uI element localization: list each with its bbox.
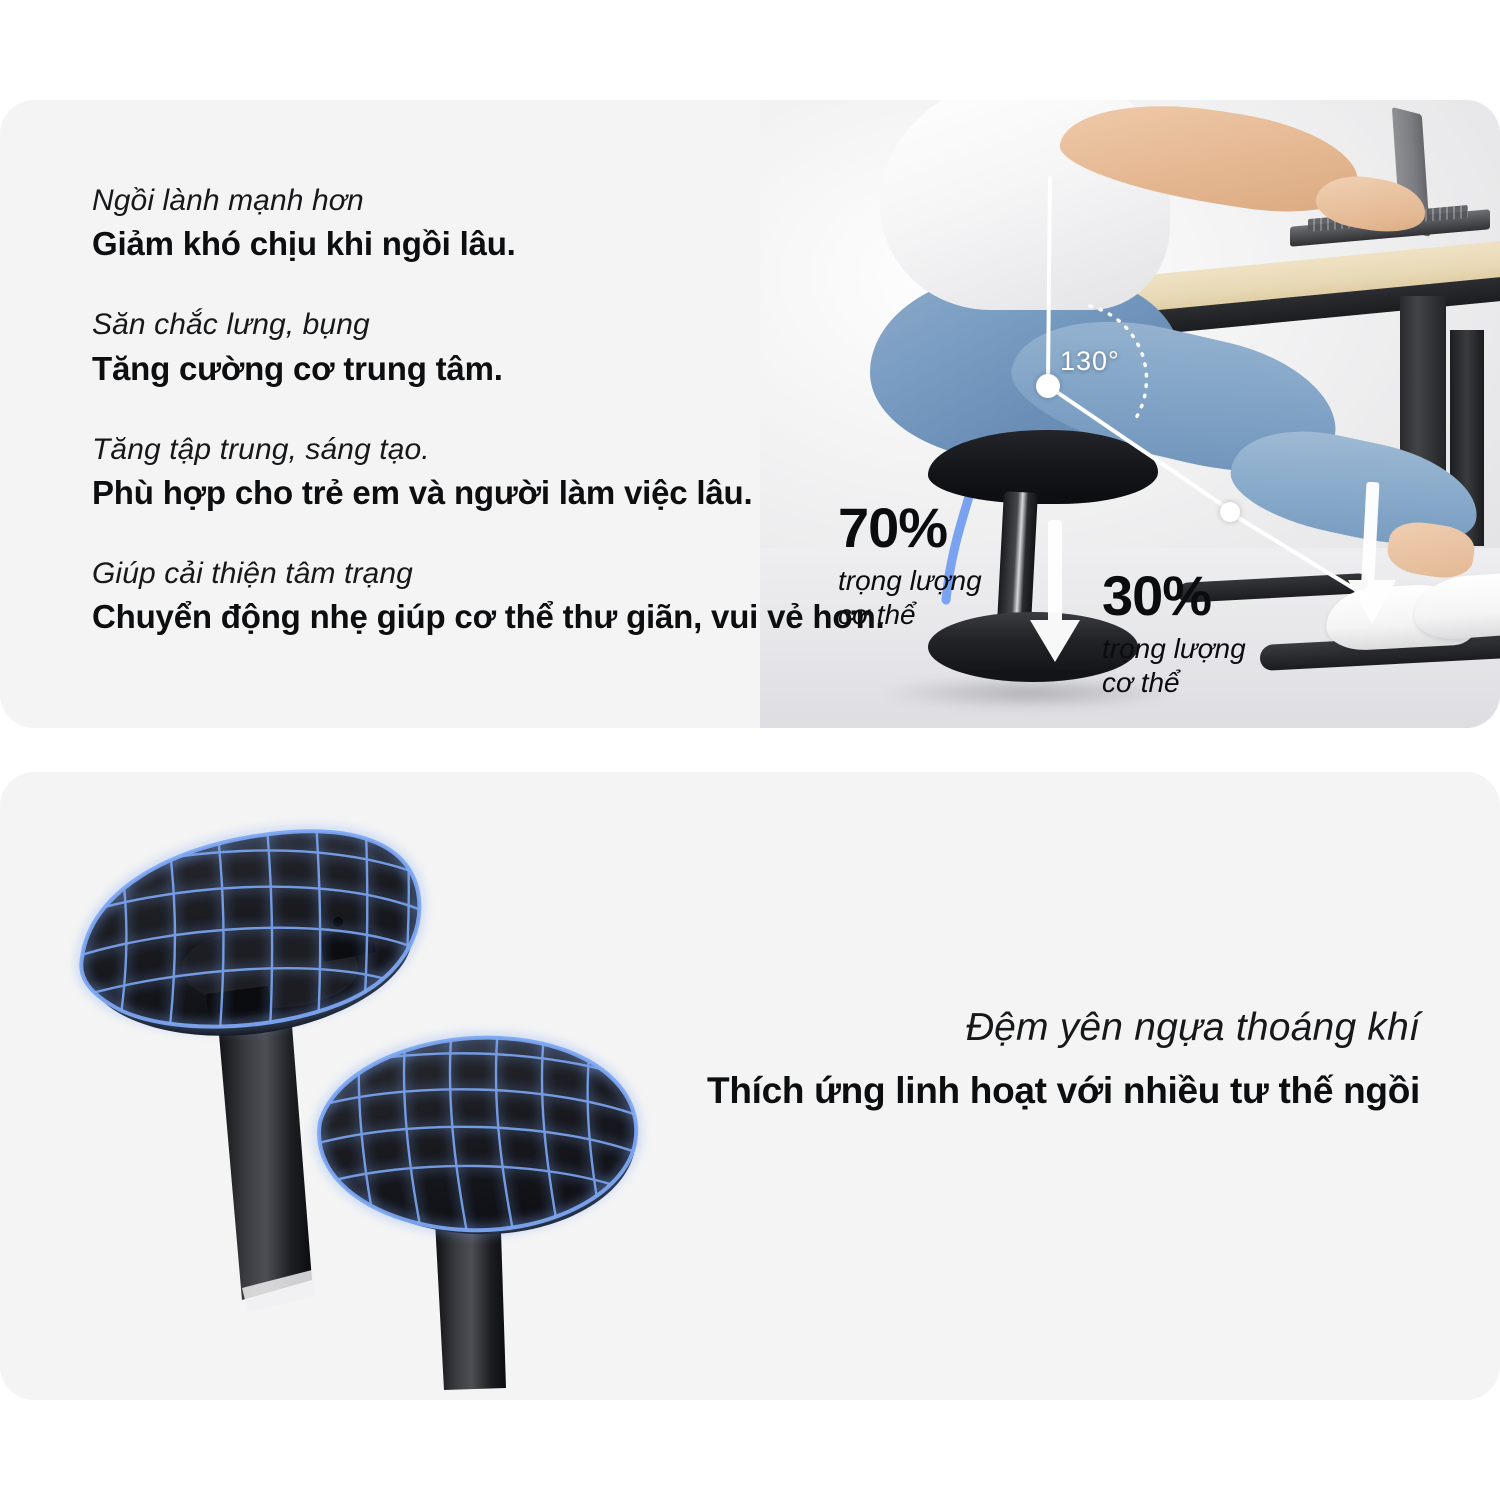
weight-stat-feet-value: 30% bbox=[1102, 568, 1246, 624]
benefit-item: Giúp cải thiện tâm trạng Chuyển động nhẹ… bbox=[92, 555, 772, 639]
benefit-item: Ngồi lành mạnh hơn Giảm khó chịu khi ngồ… bbox=[92, 182, 772, 266]
hip-angle-label: 130° bbox=[1060, 346, 1120, 377]
breathable-saddle-panel: Đệm yên ngựa thoáng khí Thích ứng linh h… bbox=[0, 772, 1500, 1400]
saddle-subtitle: Đệm yên ngựa thoáng khí bbox=[660, 1004, 1420, 1053]
benefit-list: Ngồi lành mạnh hơn Giảm khó chịu khi ngồ… bbox=[92, 182, 772, 639]
weight-stat-feet-label: trọng lượng cơ thể bbox=[1102, 632, 1246, 700]
benefit-item: Tăng tập trung, sáng tạo. Phù hợp cho tr… bbox=[92, 431, 772, 515]
weight-stat-feet: 30% trọng lượng cơ thể bbox=[1102, 568, 1246, 700]
benefit-subtitle: Ngồi lành mạnh hơn bbox=[92, 182, 772, 220]
benefits-panel: 130° 70% trọng lượng cơ thể 30% trọng lư… bbox=[0, 100, 1500, 728]
benefit-title: Phù hợp cho trẻ em và người làm việc lâu… bbox=[92, 472, 772, 515]
benefit-title: Giảm khó chịu khi ngồi lâu. bbox=[92, 223, 772, 266]
benefit-subtitle: Săn chắc lưng, bụng bbox=[92, 306, 772, 344]
benefit-title: Tăng cường cơ trung tâm. bbox=[92, 348, 772, 391]
weight-stat-seat-value: 70% bbox=[838, 500, 982, 556]
saddle-title: Thích ứng linh hoạt với nhiều tư thế ngồ… bbox=[660, 1067, 1420, 1115]
benefit-item: Săn chắc lưng, bụng Tăng cường cơ trung … bbox=[92, 306, 772, 390]
knee-joint-marker bbox=[1220, 502, 1240, 522]
saddle-copy: Đệm yên ngựa thoáng khí Thích ứng linh h… bbox=[660, 1004, 1420, 1115]
benefit-subtitle: Giúp cải thiện tâm trạng bbox=[92, 555, 772, 593]
benefit-title: Chuyển động nhẹ giúp cơ thể thư giãn, vu… bbox=[92, 596, 772, 639]
benefit-subtitle: Tăng tập trung, sáng tạo. bbox=[92, 431, 772, 469]
hip-joint-marker bbox=[1036, 374, 1060, 398]
